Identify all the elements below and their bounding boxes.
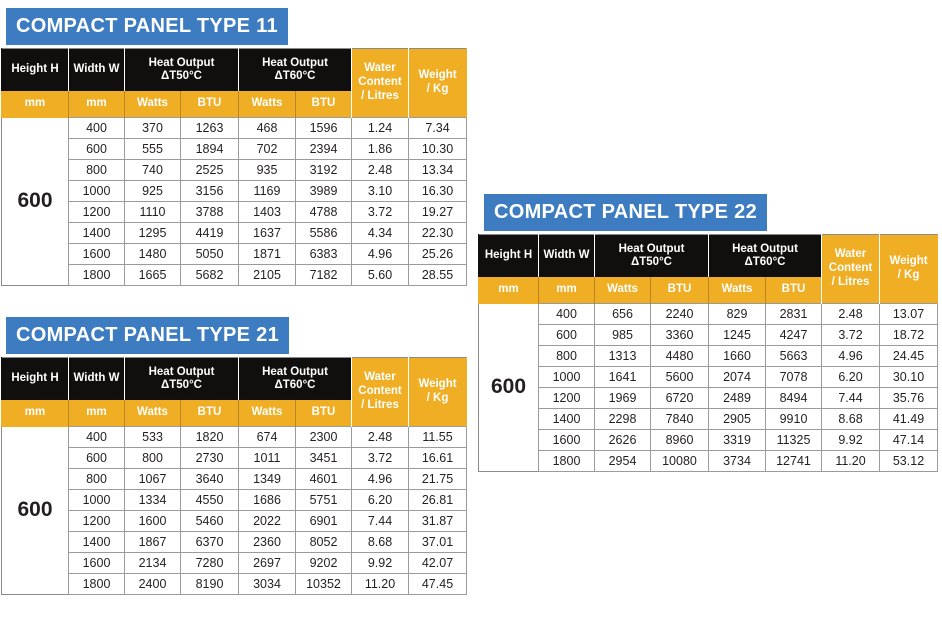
cell-btu-dt50: 5050 (181, 244, 239, 265)
cell-btu-dt50: 1894 (181, 139, 239, 160)
cell-watts-dt60: 1637 (239, 223, 296, 244)
cell-water-content: 9.92 (822, 430, 880, 451)
column-header-heat-output-dt60-line1: Heat Output (709, 243, 821, 256)
cell-btu-dt60: 11325 (766, 430, 822, 451)
cell-watts-dt50: 1665 (125, 265, 181, 286)
column-unit-btu-dt50: BTU (181, 91, 239, 118)
cell-width: 1200 (69, 511, 125, 532)
cell-btu-dt50: 3360 (651, 325, 709, 346)
cell-btu-dt50: 8960 (651, 430, 709, 451)
cell-btu-dt60: 9202 (296, 553, 352, 574)
cell-watts-dt50: 1313 (595, 346, 651, 367)
cell-watts-dt60: 2074 (709, 367, 766, 388)
cell-watts-dt50: 1334 (125, 490, 181, 511)
column-unit-btu-dt60: BTU (296, 400, 352, 427)
column-header-heat-output-dt60: Heat OutputΔT60°C (239, 49, 352, 92)
column-header-weight-line1: Weight (880, 255, 937, 269)
table-row: 180029541008037341274111.2053.12 (479, 451, 938, 472)
column-header-water-content-line2: Content (352, 385, 408, 399)
cell-btu-dt50: 3788 (181, 202, 239, 223)
cell-watts-dt60: 1011 (239, 448, 296, 469)
cell-width: 1200 (539, 388, 595, 409)
cell-weight: 37.01 (409, 532, 467, 553)
cell-btu-dt50: 2525 (181, 160, 239, 181)
cell-weight: 28.55 (409, 265, 467, 286)
cell-watts-dt60: 468 (239, 118, 296, 139)
column-header-water-content-line3: / Litres (352, 399, 408, 413)
cell-water-content: 2.48 (352, 427, 409, 448)
cell-btu-dt60: 2394 (296, 139, 352, 160)
column-header-heat-output-dt60-line2: ΔT60°C (239, 70, 351, 83)
cell-watts-dt60: 1660 (709, 346, 766, 367)
cell-btu-dt60: 6383 (296, 244, 352, 265)
column-header-heat-output-dt60-line2: ΔT60°C (239, 379, 351, 392)
cell-water-content: 11.20 (352, 574, 409, 595)
cell-watts-dt50: 656 (595, 304, 651, 325)
cell-weight: 18.72 (880, 325, 938, 346)
cell-watts-dt50: 1110 (125, 202, 181, 223)
cell-watts-dt60: 2022 (239, 511, 296, 532)
table-row: 100013344550168657516.2026.81 (2, 490, 467, 511)
cell-watts-dt60: 3734 (709, 451, 766, 472)
table-row: 18002400819030341035211.2047.45 (2, 574, 467, 595)
table-row: 800740252593531922.4813.34 (2, 160, 467, 181)
cell-width: 400 (539, 304, 595, 325)
cell-weight: 13.07 (880, 304, 938, 325)
cell-btu-dt60: 9910 (766, 409, 822, 430)
column-header-weight-line1: Weight (409, 69, 466, 83)
cell-btu-dt60: 3989 (296, 181, 352, 202)
spec-table-wrapper-type-21: Height HWidth WHeat OutputΔT50°CHeat Out… (1, 357, 467, 595)
cell-watts-dt50: 1295 (125, 223, 181, 244)
cell-water-content: 4.96 (352, 244, 409, 265)
cell-width: 1800 (69, 574, 125, 595)
table-row: 120019696720248984947.4435.76 (479, 388, 938, 409)
cell-watts-dt50: 533 (125, 427, 181, 448)
table-row: 120016005460202269017.4431.87 (2, 511, 467, 532)
cell-width: 600 (69, 448, 125, 469)
cell-btu-dt50: 2240 (651, 304, 709, 325)
column-header-heat-output-dt60-line1: Heat Output (239, 57, 351, 70)
cell-watts-dt60: 2905 (709, 409, 766, 430)
column-header-heat-output-dt60: Heat OutputΔT60°C (239, 358, 352, 401)
cell-water-content: 1.86 (352, 139, 409, 160)
column-header-height: Height H (2, 358, 69, 401)
column-header-heat-output-dt60-line2: ΔT60°C (709, 256, 821, 269)
cell-watts-dt50: 800 (125, 448, 181, 469)
cell-btu-dt60: 10352 (296, 574, 352, 595)
cell-weight: 7.34 (409, 118, 467, 139)
cell-weight: 30.10 (880, 367, 938, 388)
cell-width: 1000 (539, 367, 595, 388)
cell-water-content: 2.48 (822, 304, 880, 325)
cell-btu-dt60: 8494 (766, 388, 822, 409)
table-row: 600400533182067423002.4811.55 (2, 427, 467, 448)
cell-watts-dt60: 2489 (709, 388, 766, 409)
cell-watts-dt60: 1403 (239, 202, 296, 223)
cell-width: 800 (539, 346, 595, 367)
column-unit-watts-dt50: Watts (125, 400, 181, 427)
cell-btu-dt50: 7280 (181, 553, 239, 574)
cell-weight: 41.49 (880, 409, 938, 430)
cell-water-content: 3.10 (352, 181, 409, 202)
column-unit-watts-dt60: Watts (239, 400, 296, 427)
cell-width: 800 (69, 160, 125, 181)
cell-width: 1400 (539, 409, 595, 430)
cell-width: 400 (69, 118, 125, 139)
column-header-water-content: WaterContent/ Litres (352, 358, 409, 427)
cell-water-content: 8.68 (822, 409, 880, 430)
cell-width: 1400 (69, 532, 125, 553)
cell-btu-dt60: 3192 (296, 160, 352, 181)
cell-water-content: 4.34 (352, 223, 409, 244)
table-header-row-primary: Height HWidth WHeat OutputΔT50°CHeat Out… (479, 235, 938, 278)
column-unit-watts-dt60: Watts (709, 277, 766, 304)
column-header-heat-output-dt50: Heat OutputΔT50°C (125, 49, 239, 92)
cell-btu-dt50: 4550 (181, 490, 239, 511)
cell-btu-dt50: 8190 (181, 574, 239, 595)
column-header-water-content-line1: Water (822, 248, 879, 262)
column-header-water-content-line2: Content (352, 76, 408, 90)
table-row: 6009853360124542473.7218.72 (479, 325, 938, 346)
cell-btu-dt50: 1263 (181, 118, 239, 139)
column-header-water-content-line3: / Litres (352, 90, 408, 104)
cell-btu-dt50: 5460 (181, 511, 239, 532)
column-header-weight-line2: / Kg (409, 83, 466, 97)
cell-btu-dt60: 4247 (766, 325, 822, 346)
column-unit-watts-dt60: Watts (239, 91, 296, 118)
cell-width: 600 (69, 139, 125, 160)
cell-water-content: 2.48 (352, 160, 409, 181)
cell-watts-dt50: 1480 (125, 244, 181, 265)
table-row: 600400370126346815961.247.34 (2, 118, 467, 139)
cell-watts-dt50: 740 (125, 160, 181, 181)
column-header-width: Width W (539, 235, 595, 278)
cell-weight: 21.75 (409, 469, 467, 490)
column-header-width: Width W (69, 49, 125, 92)
cell-watts-dt50: 370 (125, 118, 181, 139)
cell-weight: 42.07 (409, 553, 467, 574)
cell-width: 1400 (69, 223, 125, 244)
table-row: 100016415600207470786.2030.10 (479, 367, 938, 388)
column-header-heat-output-dt50: Heat OutputΔT50°C (595, 235, 709, 278)
cell-width: 1000 (69, 490, 125, 511)
cell-width: 1600 (69, 244, 125, 265)
cell-watts-dt60: 1169 (239, 181, 296, 202)
table-row: 140012954419163755864.3422.30 (2, 223, 467, 244)
column-header-heat-output-dt60-line1: Heat Output (239, 366, 351, 379)
column-unit-btu-dt60: BTU (766, 277, 822, 304)
cell-btu-dt50: 3640 (181, 469, 239, 490)
cell-btu-dt50: 7840 (651, 409, 709, 430)
cell-weight: 24.45 (880, 346, 938, 367)
cell-btu-dt50: 2730 (181, 448, 239, 469)
column-header-heat-output-dt50-line1: Heat Output (125, 366, 238, 379)
column-header-water-content-line2: Content (822, 262, 879, 276)
table-header-row-primary: Height HWidth WHeat OutputΔT50°CHeat Out… (2, 358, 467, 401)
cell-watts-dt60: 2105 (239, 265, 296, 286)
column-unit-btu-dt50: BTU (651, 277, 709, 304)
column-header-weight: Weight/ Kg (409, 358, 467, 427)
cell-btu-dt50: 5682 (181, 265, 239, 286)
cell-btu-dt60: 2300 (296, 427, 352, 448)
cell-height-value: 600 (479, 304, 539, 472)
cell-watts-dt50: 2134 (125, 553, 181, 574)
cell-water-content: 1.24 (352, 118, 409, 139)
cell-btu-dt50: 6720 (651, 388, 709, 409)
cell-watts-dt60: 1871 (239, 244, 296, 265)
cell-weight: 47.45 (409, 574, 467, 595)
column-header-weight: Weight/ Kg (409, 49, 467, 118)
cell-btu-dt50: 6370 (181, 532, 239, 553)
cell-water-content: 11.20 (822, 451, 880, 472)
cell-watts-dt50: 1969 (595, 388, 651, 409)
table-row: 80010673640134946014.9621.75 (2, 469, 467, 490)
cell-btu-dt60: 2831 (766, 304, 822, 325)
cell-btu-dt60: 5751 (296, 490, 352, 511)
column-unit-watts-dt50: Watts (125, 91, 181, 118)
cell-weight: 22.30 (409, 223, 467, 244)
cell-watts-dt60: 3034 (239, 574, 296, 595)
cell-water-content: 6.20 (822, 367, 880, 388)
cell-btu-dt60: 5586 (296, 223, 352, 244)
cell-weight: 25.26 (409, 244, 467, 265)
panel-section-type-22: COMPACT PANEL TYPE 22 (484, 194, 767, 231)
panel-title-type-11: COMPACT PANEL TYPE 11 (6, 8, 288, 45)
column-unit-btu-dt60: BTU (296, 91, 352, 118)
cell-watts-dt60: 702 (239, 139, 296, 160)
column-header-heat-output-dt50-line1: Heat Output (595, 243, 708, 256)
cell-weight: 11.55 (409, 427, 467, 448)
table-row: 600555189470223941.8610.30 (2, 139, 467, 160)
cell-water-content: 3.72 (822, 325, 880, 346)
column-header-heat-output-dt50-line2: ΔT50°C (125, 379, 238, 392)
column-header-weight-line2: / Kg (880, 269, 937, 283)
cell-watts-dt60: 2697 (239, 553, 296, 574)
cell-height-value: 600 (2, 118, 69, 286)
cell-btu-dt60: 5663 (766, 346, 822, 367)
cell-weight: 47.14 (880, 430, 938, 451)
cell-watts-dt50: 1600 (125, 511, 181, 532)
cell-btu-dt60: 4788 (296, 202, 352, 223)
cell-width: 1600 (69, 553, 125, 574)
spec-table-type-21: Height HWidth WHeat OutputΔT50°CHeat Out… (1, 357, 467, 595)
cell-watts-dt60: 3319 (709, 430, 766, 451)
cell-btu-dt60: 8052 (296, 532, 352, 553)
column-header-water-content-line3: / Litres (822, 276, 879, 290)
table-row: 140018676370236080528.6837.01 (2, 532, 467, 553)
panel-title-type-21: COMPACT PANEL TYPE 21 (6, 317, 289, 354)
column-unit-watts-dt50: Watts (595, 277, 651, 304)
cell-weight: 16.61 (409, 448, 467, 469)
cell-watts-dt60: 1245 (709, 325, 766, 346)
column-header-heat-output-dt50-line1: Heat Output (125, 57, 238, 70)
cell-watts-dt50: 2954 (595, 451, 651, 472)
cell-water-content: 6.20 (352, 490, 409, 511)
cell-water-content: 7.44 (352, 511, 409, 532)
column-header-heat-output-dt50-line2: ΔT50°C (125, 70, 238, 83)
column-unit-btu-dt50: BTU (181, 400, 239, 427)
cell-watts-dt50: 555 (125, 139, 181, 160)
cell-weight: 16.30 (409, 181, 467, 202)
cell-btu-dt60: 12741 (766, 451, 822, 472)
cell-watts-dt60: 2360 (239, 532, 296, 553)
cell-water-content: 8.68 (352, 532, 409, 553)
cell-watts-dt50: 2626 (595, 430, 651, 451)
table-row: 80013134480166056634.9624.45 (479, 346, 938, 367)
cell-water-content: 5.60 (352, 265, 409, 286)
column-unit-width-mm: mm (69, 91, 125, 118)
cell-width: 1000 (69, 181, 125, 202)
spec-table-wrapper-type-22: Height HWidth WHeat OutputΔT50°CHeat Out… (478, 234, 938, 472)
cell-width: 1600 (539, 430, 595, 451)
cell-watts-dt50: 985 (595, 325, 651, 346)
cell-btu-dt50: 1820 (181, 427, 239, 448)
column-header-weight-line2: / Kg (409, 392, 466, 406)
cell-btu-dt60: 6901 (296, 511, 352, 532)
cell-width: 1800 (539, 451, 595, 472)
cell-watts-dt50: 1641 (595, 367, 651, 388)
cell-width: 400 (69, 427, 125, 448)
cell-btu-dt50: 10080 (651, 451, 709, 472)
cell-watts-dt60: 674 (239, 427, 296, 448)
column-unit-height-mm: mm (479, 277, 539, 304)
column-header-weight-line1: Weight (409, 378, 466, 392)
panel-title-type-22: COMPACT PANEL TYPE 22 (484, 194, 767, 231)
cell-btu-dt60: 7078 (766, 367, 822, 388)
table-row: 180016655682210571825.6028.55 (2, 265, 467, 286)
cell-width: 600 (539, 325, 595, 346)
cell-water-content: 4.96 (352, 469, 409, 490)
cell-water-content: 3.72 (352, 448, 409, 469)
cell-watts-dt50: 2400 (125, 574, 181, 595)
cell-width: 800 (69, 469, 125, 490)
column-header-heat-output-dt50: Heat OutputΔT50°C (125, 358, 239, 401)
cell-water-content: 7.44 (822, 388, 880, 409)
cell-width: 1200 (69, 202, 125, 223)
table-row: 160021347280269792029.9242.07 (2, 553, 467, 574)
column-header-height: Height H (2, 49, 69, 92)
cell-btu-dt60: 4601 (296, 469, 352, 490)
column-header-width: Width W (69, 358, 125, 401)
cell-water-content: 4.96 (822, 346, 880, 367)
cell-btu-dt60: 1596 (296, 118, 352, 139)
table-row: 10009253156116939893.1016.30 (2, 181, 467, 202)
column-unit-width-mm: mm (69, 400, 125, 427)
panel-section-type-21: COMPACT PANEL TYPE 21 (6, 317, 289, 354)
cell-weight: 35.76 (880, 388, 938, 409)
column-header-heat-output-dt60: Heat OutputΔT60°C (709, 235, 822, 278)
column-unit-height-mm: mm (2, 91, 69, 118)
table-row: 160014805050187163834.9625.26 (2, 244, 467, 265)
column-header-height: Height H (479, 235, 539, 278)
cell-watts-dt60: 829 (709, 304, 766, 325)
cell-btu-dt60: 7182 (296, 265, 352, 286)
cell-watts-dt60: 1686 (239, 490, 296, 511)
cell-watts-dt50: 1867 (125, 532, 181, 553)
cell-width: 1800 (69, 265, 125, 286)
cell-weight: 26.81 (409, 490, 467, 511)
column-header-weight: Weight/ Kg (880, 235, 938, 304)
cell-weight: 31.87 (409, 511, 467, 532)
column-unit-width-mm: mm (539, 277, 595, 304)
column-header-water-content-line1: Water (352, 371, 408, 385)
cell-btu-dt50: 4480 (651, 346, 709, 367)
column-unit-height-mm: mm (2, 400, 69, 427)
cell-weight: 53.12 (880, 451, 938, 472)
panel-section-type-11: COMPACT PANEL TYPE 11 (6, 8, 288, 45)
cell-watts-dt50: 1067 (125, 469, 181, 490)
table-row: 600400656224082928312.4813.07 (479, 304, 938, 325)
cell-watts-dt50: 925 (125, 181, 181, 202)
cell-weight: 10.30 (409, 139, 467, 160)
column-header-water-content-line1: Water (352, 62, 408, 76)
spec-table-wrapper-type-11: Height HWidth WHeat OutputΔT50°CHeat Out… (1, 48, 467, 286)
cell-btu-dt50: 3156 (181, 181, 239, 202)
cell-weight: 19.27 (409, 202, 467, 223)
column-header-water-content: WaterContent/ Litres (352, 49, 409, 118)
cell-btu-dt50: 5600 (651, 367, 709, 388)
cell-watts-dt60: 935 (239, 160, 296, 181)
table-row: 1600262689603319113259.9247.14 (479, 430, 938, 451)
cell-water-content: 9.92 (352, 553, 409, 574)
spec-table-type-22: Height HWidth WHeat OutputΔT50°CHeat Out… (478, 234, 938, 472)
cell-watts-dt60: 1349 (239, 469, 296, 490)
cell-btu-dt60: 3451 (296, 448, 352, 469)
cell-watts-dt50: 2298 (595, 409, 651, 430)
cell-weight: 13.34 (409, 160, 467, 181)
spec-table-type-11: Height HWidth WHeat OutputΔT50°CHeat Out… (1, 48, 467, 286)
table-row: 120011103788140347883.7219.27 (2, 202, 467, 223)
cell-height-value: 600 (2, 427, 69, 595)
cell-water-content: 3.72 (352, 202, 409, 223)
table-row: 140022987840290599108.6841.49 (479, 409, 938, 430)
table-header-row-primary: Height HWidth WHeat OutputΔT50°CHeat Out… (2, 49, 467, 92)
column-header-heat-output-dt50-line2: ΔT50°C (595, 256, 708, 269)
table-row: 6008002730101134513.7216.61 (2, 448, 467, 469)
column-header-water-content: WaterContent/ Litres (822, 235, 880, 304)
cell-btu-dt50: 4419 (181, 223, 239, 244)
